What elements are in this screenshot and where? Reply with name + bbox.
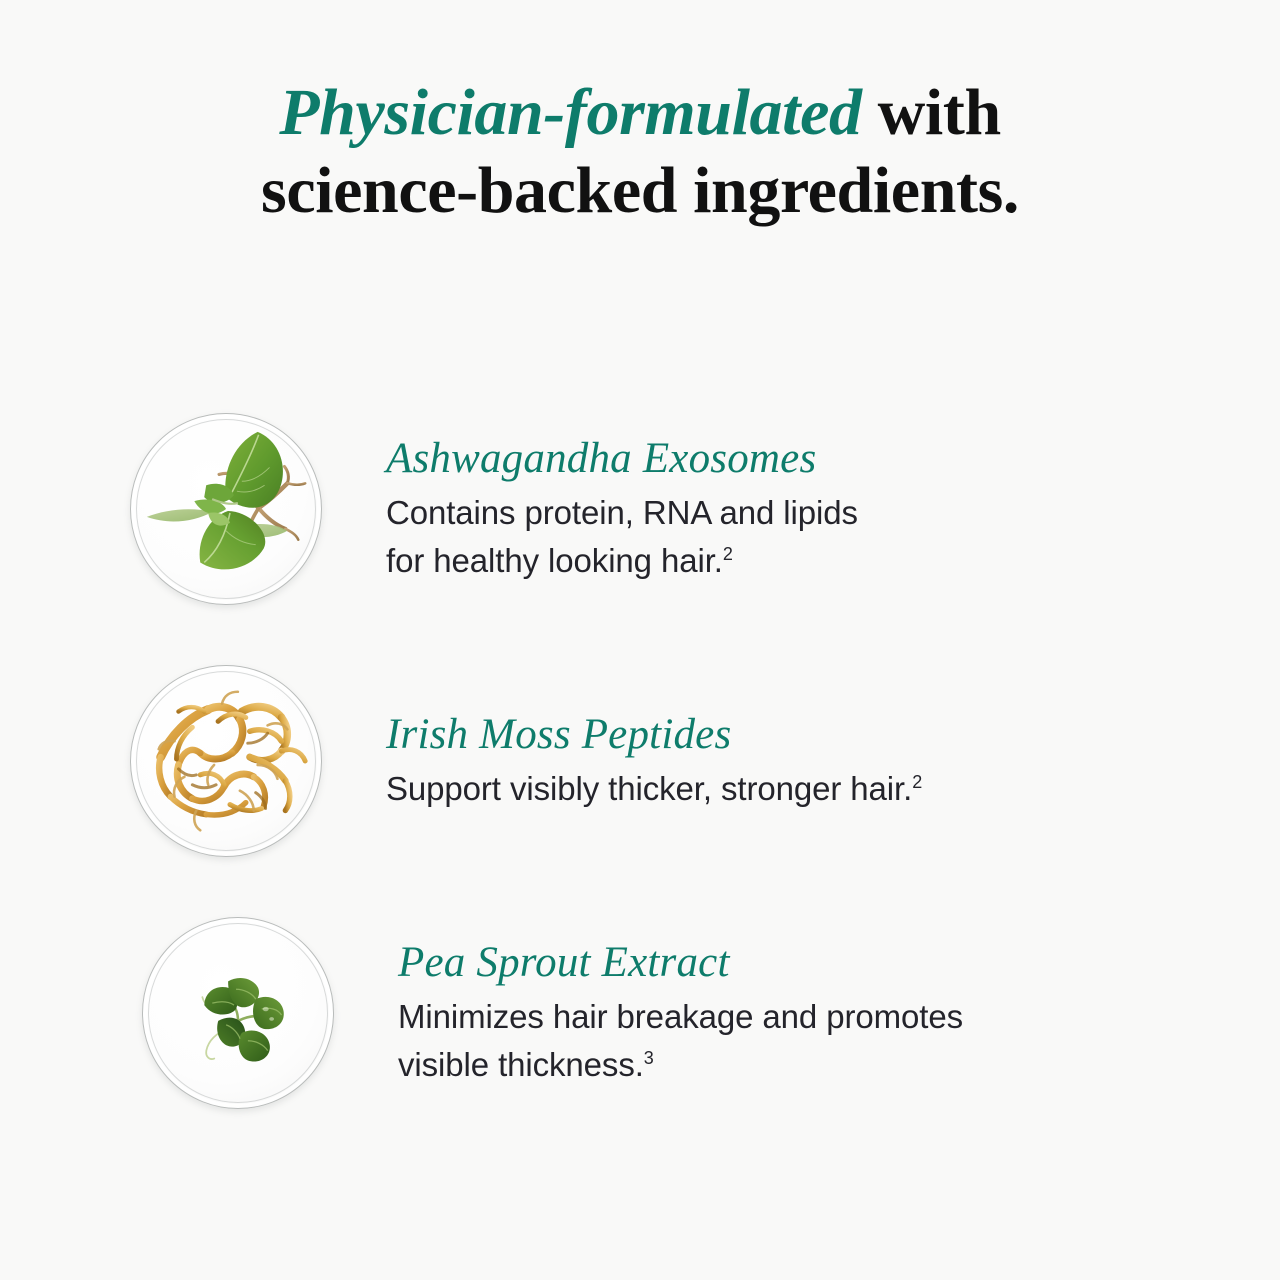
ashwagandha-dish-container <box>108 404 344 614</box>
pea-sprout-dish-container <box>120 908 356 1118</box>
ingredient-description: Minimizes hair breakage and promotes vis… <box>398 993 963 1089</box>
ingredient-row-pea-sprout: Pea Sprout Extract Minimizes hair breaka… <box>0 887 1280 1139</box>
ashwagandha-petri-dish-icon <box>130 413 322 605</box>
irish-moss-text-block: Irish Moss Peptides Support visibly thic… <box>386 709 922 813</box>
ingredient-title: Irish Moss Peptides <box>386 709 922 761</box>
pea-sprout-text-block: Pea Sprout Extract Minimizes hair breaka… <box>398 937 963 1089</box>
ingredient-description: Support visibly thicker, stronger hair.2 <box>386 765 922 813</box>
description-line-2: visible thickness. <box>398 1046 644 1083</box>
footnote-marker: 2 <box>912 772 922 792</box>
irish-moss-petri-dish-icon <box>130 665 322 857</box>
description-line-1: Minimizes hair breakage and promotes <box>398 998 963 1035</box>
description-line-2: for healthy looking hair. <box>386 542 723 579</box>
ingredient-list: Ashwagandha Exosomes Contains protein, R… <box>0 383 1280 1139</box>
ingredient-description: Contains protein, RNA and lipids for hea… <box>386 489 858 585</box>
ingredient-row-ashwagandha: Ashwagandha Exosomes Contains protein, R… <box>0 383 1280 635</box>
irish-moss-dish-container <box>108 656 344 866</box>
headline-rest-text: with <box>862 76 1001 149</box>
ingredient-title: Pea Sprout Extract <box>398 937 963 989</box>
footnote-marker: 3 <box>644 1048 654 1068</box>
ingredient-row-irish-moss: Irish Moss Peptides Support visibly thic… <box>0 635 1280 887</box>
description-line-1: Support visibly thicker, stronger hair. <box>386 770 912 807</box>
ashwagandha-text-block: Ashwagandha Exosomes Contains protein, R… <box>386 433 858 585</box>
pea-sprout-petri-dish-icon <box>142 917 334 1109</box>
headline-accent-text: Physician-formulated <box>279 76 861 149</box>
page-title: Physician-formulated with science-backed… <box>0 74 1280 230</box>
footnote-marker: 2 <box>723 544 733 564</box>
ingredient-title: Ashwagandha Exosomes <box>386 433 858 485</box>
headline-second-line: science-backed ingredients. <box>0 152 1280 230</box>
description-line-1: Contains protein, RNA and lipids <box>386 494 858 531</box>
